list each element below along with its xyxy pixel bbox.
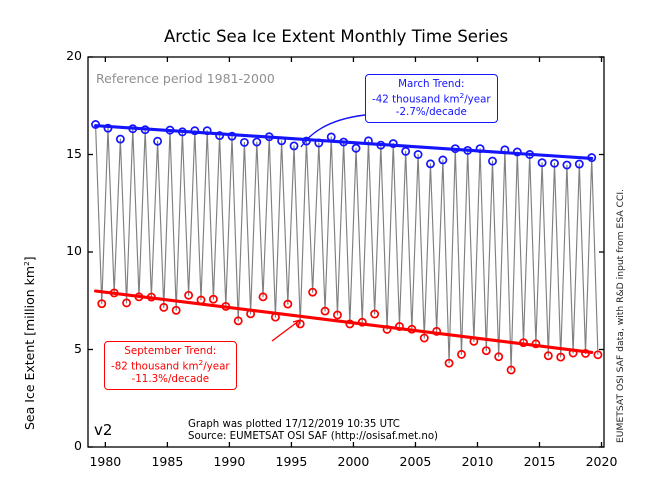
y-tick-label: 10 <box>46 243 82 258</box>
x-tick-label: 2015 <box>510 454 570 469</box>
y-tick-label: 15 <box>46 146 82 161</box>
x-tick-label: 1985 <box>137 454 197 469</box>
x-tick-label: 2010 <box>447 454 507 469</box>
monthly-series-line <box>96 124 598 370</box>
chart-canvas <box>0 0 672 500</box>
y-tick-label: 0 <box>46 438 82 453</box>
x-tick-label: 2005 <box>385 454 445 469</box>
x-tick-label: 1980 <box>75 454 135 469</box>
x-tick-label: 1995 <box>261 454 321 469</box>
y-tick-label: 5 <box>46 341 82 356</box>
x-tick-label: 2020 <box>572 454 632 469</box>
y-tick-label: 20 <box>46 48 82 63</box>
x-tick-label: 1990 <box>199 454 259 469</box>
x-tick-label: 2000 <box>323 454 383 469</box>
